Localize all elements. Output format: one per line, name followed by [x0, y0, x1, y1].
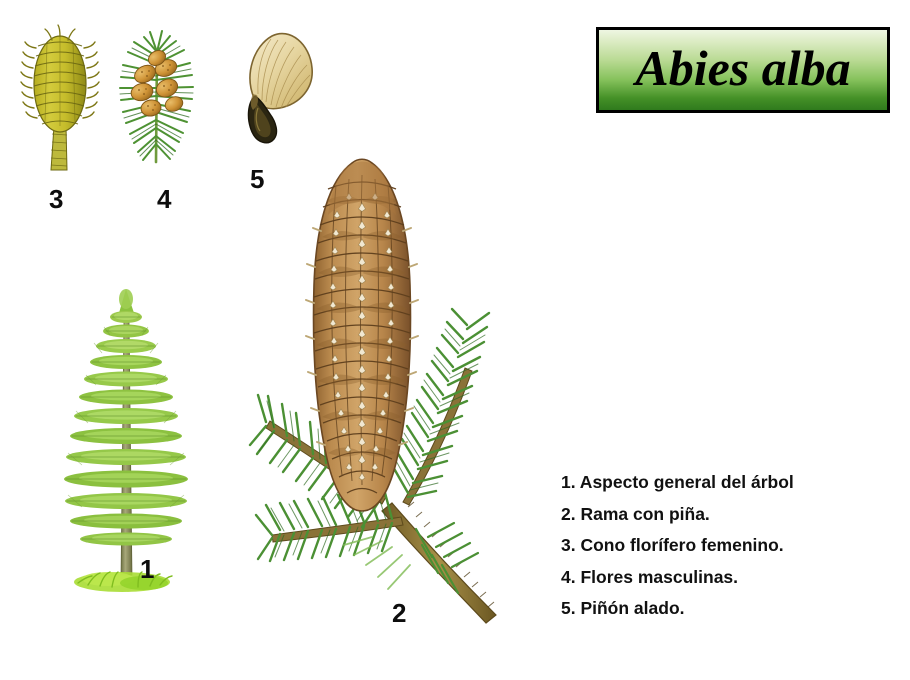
legend-item: 3. Cono florífero femenino. — [561, 537, 901, 555]
figure-label-3: 3 — [49, 186, 63, 212]
figure-whole-tree — [48, 283, 208, 603]
figure-male-flowers — [104, 22, 210, 180]
species-title-plate: Abies alba — [596, 27, 890, 113]
legend-item: 2. Rama con piña. — [561, 506, 901, 524]
figure-label-2: 2 — [392, 600, 406, 626]
figure-winged-seed — [228, 22, 324, 162]
legend-item: 4. Flores masculinas. — [561, 569, 901, 587]
legend-item: 5. Piñón alado. — [561, 600, 901, 618]
figure-branch-with-cone — [196, 145, 526, 630]
figure-label-1: 1 — [140, 556, 154, 582]
illustration-canvas: Abies alba — [0, 0, 910, 680]
legend-list: 1. Aspecto general del árbol 2. Rama con… — [561, 474, 901, 632]
legend-item: 1. Aspecto general del árbol — [561, 474, 901, 492]
figure-female-cone — [14, 22, 110, 180]
page-title: Abies alba — [635, 43, 850, 97]
figure-label-5: 5 — [250, 166, 264, 192]
figure-label-4: 4 — [157, 186, 171, 212]
